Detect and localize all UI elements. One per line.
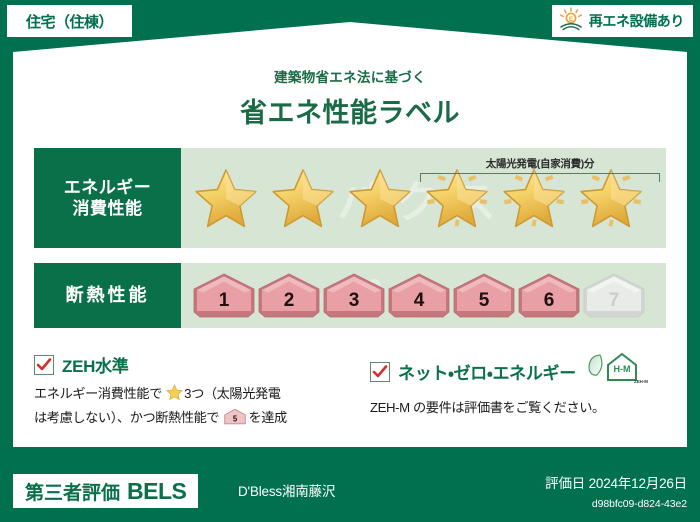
zeh-m-logo-caption: ZEH-M: [634, 379, 648, 384]
solar-sun-icon: E: [558, 7, 584, 36]
page-title: 省エネ性能ラベル: [0, 91, 700, 130]
energy-performance-body: パクス 太陽光発電(自家消費)分: [181, 148, 666, 248]
insulation-performance-body: パクス 1 2 3 4: [181, 263, 666, 328]
property-name: D'Bless湘南藤沢: [238, 480, 335, 500]
footer: 第三者評価 BELS D'Bless湘南藤沢 評価日 2024年12月26日 d…: [0, 447, 700, 522]
house-badge-value: 3: [323, 290, 385, 312]
house-badge-value: 2: [258, 290, 320, 312]
star-1: [187, 164, 264, 232]
zeh-check-header: ZEH水準: [34, 352, 352, 377]
insulation-performance-label: 断熱性能: [34, 263, 181, 328]
house-badge-value: 7: [583, 290, 645, 312]
renewable-energy-badge: E 再エネ設備あり: [552, 5, 693, 37]
inline-grade-badge: 5: [221, 414, 246, 429]
energy-performance-label: 住宅（住棟） E 再エネ設備あり 建築物省エネ法に基づく: [0, 0, 700, 522]
renewable-energy-badge-label: 再エネ設備あり: [589, 11, 684, 31]
star-glyph: [498, 164, 570, 232]
building-type-tag: 住宅（住棟）: [7, 5, 132, 37]
zeh-desc-part1: エネルギー消費性能で: [34, 386, 162, 401]
house-badge-value: 1: [193, 290, 255, 312]
star-glyph: [267, 164, 339, 232]
bels-plate: 第三者評価 BELS: [13, 474, 198, 508]
insulation-badge-4: 4: [388, 273, 450, 318]
building-type-tag-label: 住宅（住棟）: [26, 11, 113, 32]
zeh-desc-part2: 3つ（太陽光発電: [184, 386, 280, 401]
insulation-badge-3: 3: [323, 273, 385, 318]
nze-check-title: ネット・ゼロ・エネルギー: [398, 359, 576, 384]
zeh-desc-part3: は考慮しない）、かつ断熱性能で: [34, 410, 219, 425]
svg-text:E: E: [569, 16, 574, 23]
zeh-m-house-logo: H-M ZEH-M: [586, 352, 648, 391]
energy-performance-row: エネルギー 消費性能 パクス 太陽光発電(自家消費)分: [34, 148, 666, 248]
star-glyph: [421, 164, 493, 232]
star-5: [495, 164, 572, 232]
evaluation-date: 評価日 2024年12月26日: [545, 472, 687, 492]
star-glyph: [344, 164, 416, 232]
energy-label-line1: エネルギー: [64, 177, 152, 198]
title-block: 建築物省エネ法に基づく 省エネ性能ラベル: [0, 66, 700, 130]
bels-en-label: BELS: [127, 478, 186, 505]
evaluation-id: d98bfc09-d824-43e2: [592, 498, 687, 510]
insulation-badge-6: 6: [518, 273, 580, 318]
house-badge-value: 5: [453, 290, 515, 312]
star-rating: [181, 164, 666, 232]
nze-check-description: ZEH-M の要件は評価書をご覧ください。: [370, 398, 670, 418]
zeh-m-logo-text: H-M: [613, 364, 630, 374]
insulation-label-text: 断熱性能: [66, 284, 150, 307]
energy-performance-label: エネルギー 消費性能: [34, 148, 181, 248]
net-zero-energy-check: ネット・ゼロ・エネルギー H-M ZEH-M: [352, 352, 670, 433]
nze-checkbox[interactable]: [370, 362, 390, 382]
nze-check-header: ネット・ゼロ・エネルギー H-M ZEH-M: [370, 352, 670, 391]
zeh-desc-part4: を達成: [248, 410, 286, 425]
inline-star-icon: [163, 389, 183, 404]
insulation-grade-badges: 1 2 3 4 5: [181, 273, 645, 318]
star-glyph: [575, 164, 647, 232]
insulation-badge-2: 2: [258, 273, 320, 318]
house-badge-value: 6: [518, 290, 580, 312]
energy-label-line2: 消費性能: [73, 198, 143, 219]
insulation-performance-row: 断熱性能 パクス 1 2 3: [34, 263, 666, 328]
title-subtitle: 建築物省エネ法に基づく: [0, 66, 700, 86]
star-2: [264, 164, 341, 232]
insulation-badge-1: 1: [193, 273, 255, 318]
star-glyph: [190, 164, 262, 232]
bels-jp-label: 第三者評価: [25, 478, 120, 505]
insulation-badge-7: 7: [583, 273, 645, 318]
zeh-check-title: ZEH水準: [62, 352, 129, 377]
zeh-check-description: エネルギー消費性能で 3つ（太陽光発電 は考慮しない）、かつ断熱性能で 5 を達…: [34, 384, 352, 433]
zeh-standard-check: ZEH水準 エネルギー消費性能で 3つ（太陽光発電 は考慮しない）、かつ断熱性能…: [34, 352, 352, 433]
certification-checks: ZEH水準 エネルギー消費性能で 3つ（太陽光発電 は考慮しない）、かつ断熱性能…: [34, 352, 670, 433]
house-badge-value: 4: [388, 290, 450, 312]
star-4: [418, 164, 495, 232]
star-3: [341, 164, 418, 232]
zeh-checkbox[interactable]: [34, 355, 54, 375]
insulation-badge-5: 5: [453, 273, 515, 318]
star-6: [572, 164, 649, 232]
